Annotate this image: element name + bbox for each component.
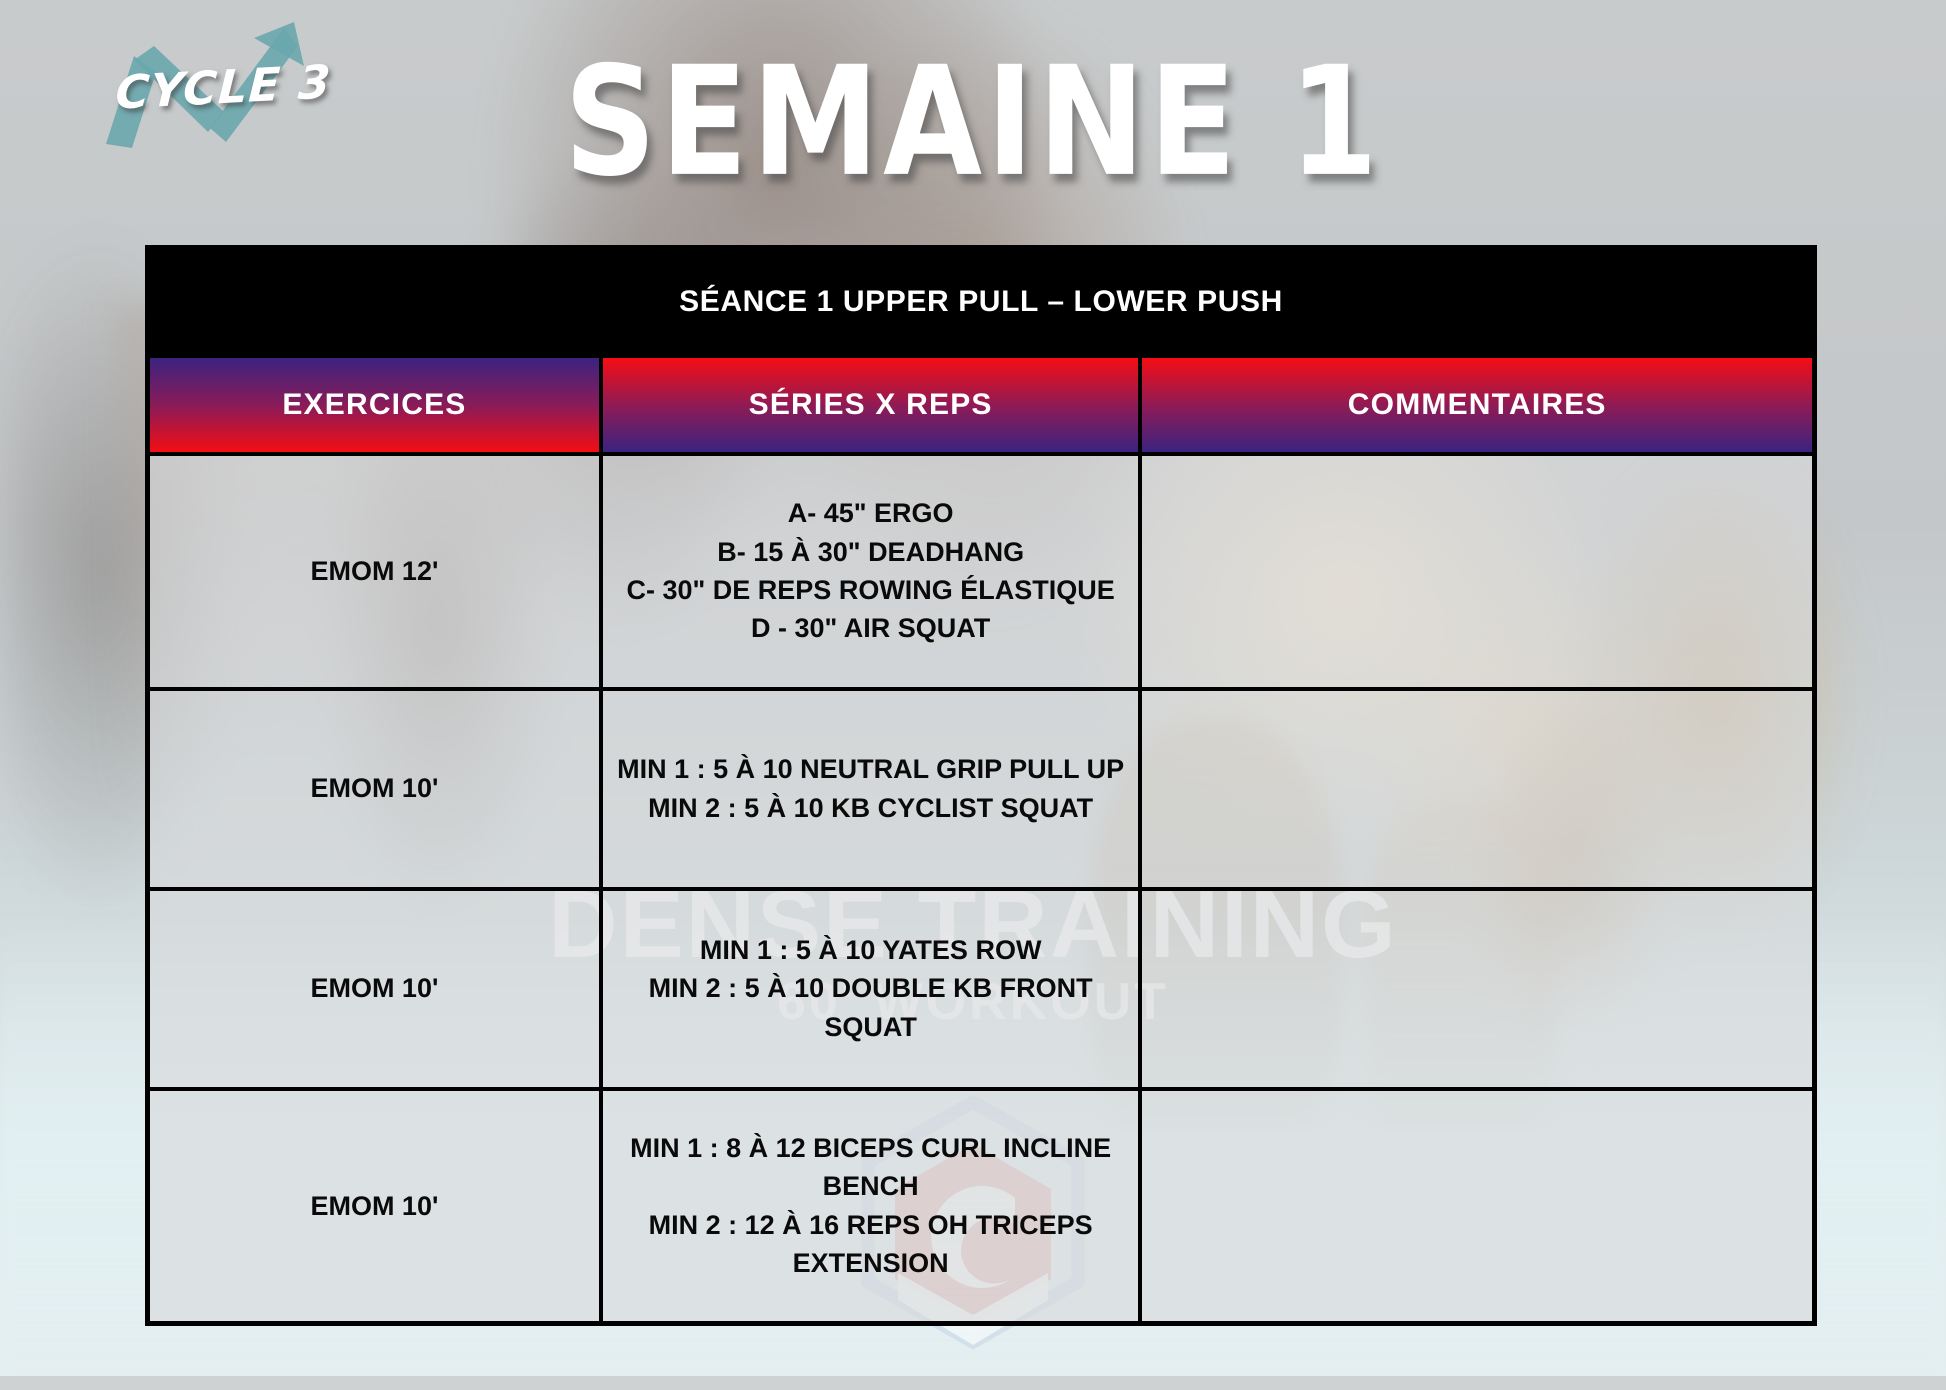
cell-comments[interactable] — [1140, 689, 1814, 889]
cell-comments[interactable] — [1140, 454, 1814, 689]
column-header-commentaires: COMMENTAIRES — [1140, 356, 1814, 454]
cell-sets-reps: A- 45" ERGOB- 15 À 30" DEADHANGC- 30" DE… — [601, 454, 1141, 689]
cell-sets-reps: MIN 1 : 8 À 12 BICEPS CURL INCLINE BENCH… — [601, 1089, 1141, 1324]
cell-sets-reps: MIN 1 : 5 À 10 YATES ROWMIN 2 : 5 À 10 D… — [601, 889, 1141, 1089]
column-header-series-reps: SÉRIES X REPS — [601, 356, 1141, 454]
column-header-exercices: EXERCICES — [148, 356, 601, 454]
workout-table: SÉANCE 1 UPPER PULL – LOWER PUSH EXERCIC… — [145, 245, 1817, 1326]
session-title: SÉANCE 1 UPPER PULL – LOWER PUSH — [148, 248, 1815, 356]
cell-sets-reps: MIN 1 : 5 À 10 NEUTRAL GRIP PULL UPMIN 2… — [601, 689, 1141, 889]
cell-comments[interactable] — [1140, 889, 1814, 1089]
session-title-row: SÉANCE 1 UPPER PULL – LOWER PUSH — [148, 248, 1815, 356]
page-title: SEMAINE 1 — [0, 35, 1946, 211]
table-row: EMOM 10' MIN 1 : 5 À 10 YATES ROWMIN 2 :… — [148, 889, 1815, 1089]
cell-comments[interactable] — [1140, 1089, 1814, 1324]
table-row: EMOM 12' A- 45" ERGOB- 15 À 30" DEADHANG… — [148, 454, 1815, 689]
cell-exercise: EMOM 10' — [148, 889, 601, 1089]
column-header-row: EXERCICES SÉRIES X REPS COMMENTAIRES — [148, 356, 1815, 454]
cell-exercise: EMOM 12' — [148, 454, 601, 689]
table-row: EMOM 10' MIN 1 : 5 À 10 NEUTRAL GRIP PUL… — [148, 689, 1815, 889]
cell-exercise: EMOM 10' — [148, 689, 601, 889]
table-row: EMOM 10' MIN 1 : 8 À 12 BICEPS CURL INCL… — [148, 1089, 1815, 1324]
cell-exercise: EMOM 10' — [148, 1089, 601, 1324]
